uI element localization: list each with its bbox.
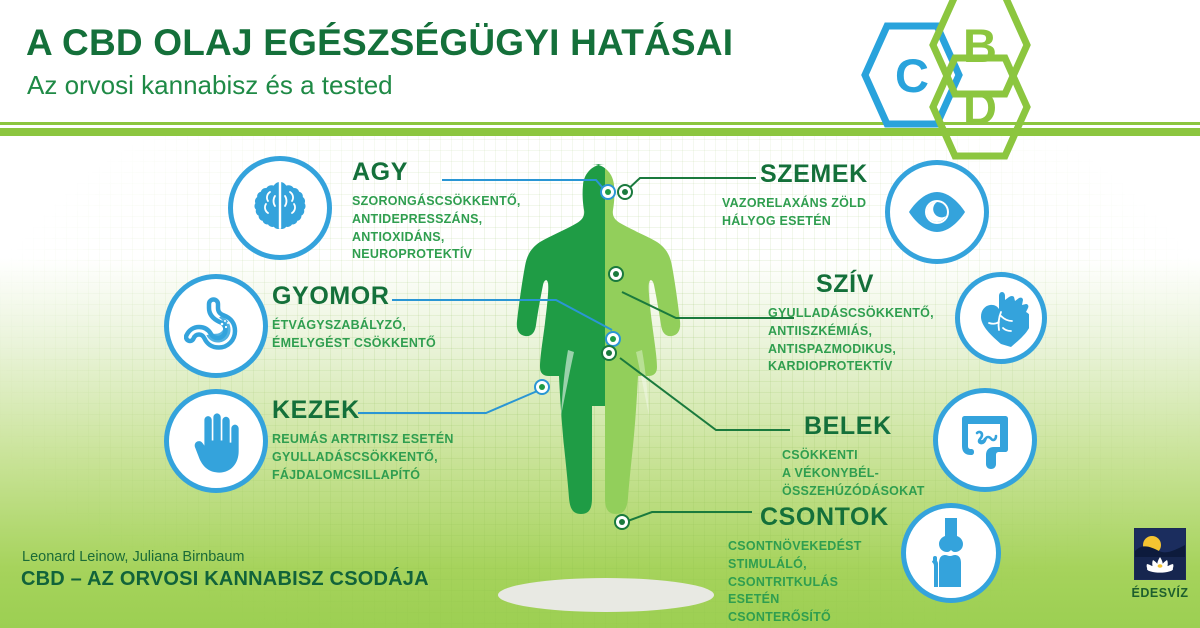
label-szemek-description: VAZORELAXÁNS ZÖLD HÁLYOG ESETÉN: [722, 195, 952, 231]
book-title: CBD – AZ ORVOSI KANNABISZ CSODÁJA: [21, 568, 429, 591]
lotus-sunset-icon: [1134, 528, 1186, 580]
label-belek-title: BELEK: [804, 414, 992, 439]
label-gyomor-title: GYOMOR: [272, 284, 492, 309]
label-gyomor: GYOMOR ÉTVÁGYSZABÁLYZÓ, ÉMELYGÉST CSÖKKE…: [272, 284, 492, 353]
label-kezek: KEZEK REUMÁS ARTRITISZ ESETÉN GYULLADÁSC…: [272, 398, 502, 484]
brain-icon: [228, 156, 332, 260]
page-subtitle: Az orvosi kannabisz és a tested: [27, 70, 393, 101]
label-agy: AGY SZORONGÁSCSÖKKENTŐ, ANTIDEPRESSZÁNS,…: [352, 160, 542, 264]
label-belek: BELEK CSÖKKENTI A VÉKONYBÉL- ÖSSZEHÚZÓDÁ…: [782, 414, 992, 500]
hand-icon: [164, 389, 268, 493]
label-szemek: SZEMEK VAZORELAXÁNS ZÖLD HÁLYOG ESETÉN: [722, 162, 952, 231]
label-sziv: SZÍV GYULLADÁSCSÖKKENTŐ, ANTIISZKÉMIÁS, …: [768, 272, 1018, 376]
label-csontok: CSONTOK CSONTNÖVEKEDÉST STIMULÁLÓ, CSONT…: [728, 505, 918, 627]
label-gyomor-description: ÉTVÁGYSZABÁLYZÓ, ÉMELYGÉST CSÖKKENTŐ: [272, 317, 492, 353]
hexagon-d-letter: D: [930, 52, 1030, 162]
label-agy-description: SZORONGÁSCSÖKKENTŐ, ANTIDEPRESSZÁNS, ANT…: [352, 193, 542, 264]
page-title: A CBD OLAJ EGÉSZSÉGÜGYI HATÁSAI: [26, 22, 733, 64]
label-szemek-title: SZEMEK: [760, 162, 952, 187]
label-sziv-title: SZÍV: [816, 272, 1018, 297]
label-agy-title: AGY: [352, 160, 542, 185]
infographic-canvas: A CBD OLAJ EGÉSZSÉGÜGYI HATÁSAI Az orvos…: [0, 0, 1200, 628]
label-csontok-description: CSONTNÖVEKEDÉST STIMULÁLÓ, CSONTRITKULÁS…: [728, 538, 918, 627]
label-belek-description: CSÖKKENTI A VÉKONYBÉL- ÖSSZEHÚZÓDÁSOKAT: [782, 447, 992, 500]
cbd-hex-logo: C B D: [862, 0, 1052, 144]
label-csontok-title: CSONTOK: [760, 505, 918, 530]
book-authors: Leonard Leinow, Juliana Birnbaum: [22, 549, 244, 565]
label-sziv-description: GYULLADÁSCSÖKKENTŐ, ANTIISZKÉMIÁS, ANTIS…: [768, 305, 1018, 376]
stomach-icon: [164, 274, 268, 378]
label-kezek-description: REUMÁS ARTRITISZ ESETÉN GYULLADÁSCSÖKKEN…: [272, 431, 502, 484]
publisher-name: ÉDESVÍZ: [1129, 586, 1191, 600]
hexagon-d: D: [930, 52, 1030, 162]
label-kezek-title: KEZEK: [272, 398, 502, 423]
